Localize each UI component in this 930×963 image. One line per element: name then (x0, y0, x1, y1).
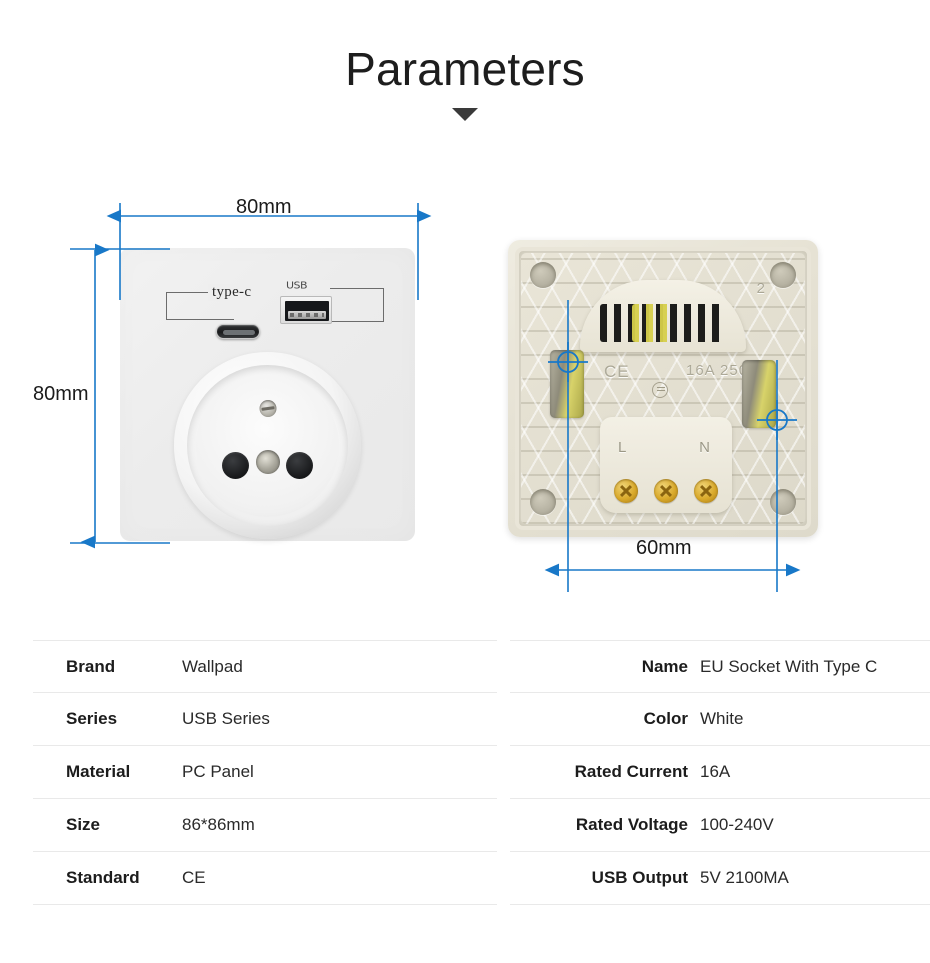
spec-value: 16A (688, 762, 730, 782)
table-row: Brand Wallpad (33, 640, 497, 693)
dimension-overlay (0, 0, 930, 620)
table-row: Series USB Series (33, 693, 497, 746)
dimension-label-height: 80mm (33, 383, 89, 406)
spec-table-left: Brand Wallpad Series USB Series Material… (33, 640, 497, 905)
dimension-label-width: 80mm (236, 196, 292, 219)
spec-value: CE (178, 868, 206, 888)
spec-value: 100-240V (688, 815, 774, 835)
spec-label: Size (33, 815, 178, 835)
spec-label: Standard (33, 868, 178, 888)
spec-value: USB Series (178, 709, 270, 729)
table-row: Rated Current 16A (510, 746, 930, 799)
spec-label: USB Output (510, 868, 688, 888)
spec-value: White (688, 709, 743, 729)
spec-value: PC Panel (178, 762, 254, 782)
table-row: Color White (510, 693, 930, 746)
spec-value: 86*86mm (178, 815, 255, 835)
product-figures: type-c USB (0, 0, 930, 620)
table-row: Rated Voltage 100-240V (510, 799, 930, 852)
spec-label: Color (510, 709, 688, 729)
spec-label: Rated Voltage (510, 815, 688, 835)
spec-label: Series (33, 709, 178, 729)
spec-label: Material (33, 762, 178, 782)
spec-label: Name (510, 657, 688, 677)
spec-value: EU Socket With Type C (688, 657, 877, 677)
spec-table-right: Name EU Socket With Type C Color White R… (510, 640, 930, 905)
spec-value: 5V 2100MA (688, 868, 789, 888)
table-row: Standard CE (33, 852, 497, 905)
dimension-label-hole-spacing: 60mm (636, 537, 692, 560)
table-row: Name EU Socket With Type C (510, 640, 930, 693)
spec-label: Rated Current (510, 762, 688, 782)
table-row: Material PC Panel (33, 746, 497, 799)
table-row: Size 86*86mm (33, 799, 497, 852)
table-row: USB Output 5V 2100MA (510, 852, 930, 905)
spec-label: Brand (33, 657, 178, 677)
spec-value: Wallpad (178, 657, 243, 677)
